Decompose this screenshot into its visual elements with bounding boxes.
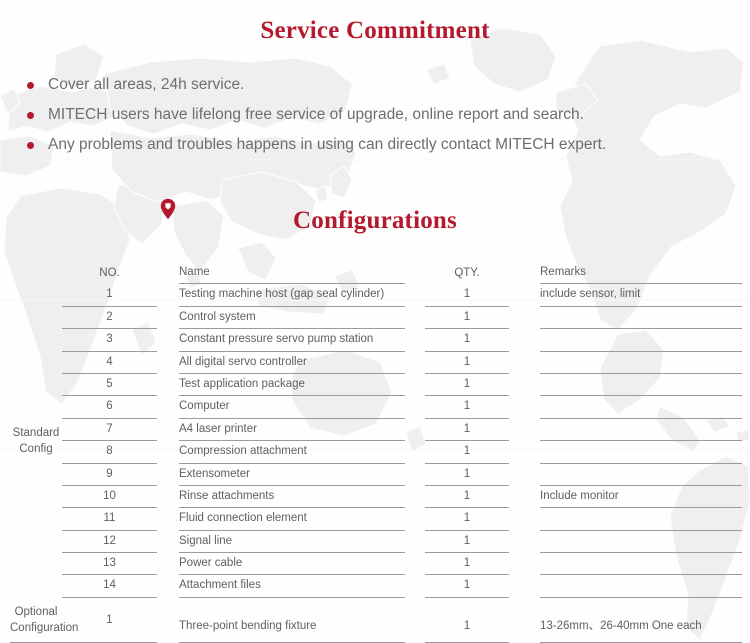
spacer bbox=[405, 441, 425, 463]
row-group-label-line: Optional bbox=[10, 604, 62, 620]
spacer bbox=[157, 464, 179, 486]
spacer bbox=[0, 419, 10, 441]
column-header-no-text: NO. bbox=[62, 263, 157, 284]
page-title-configurations: Configurations bbox=[0, 206, 750, 236]
table-row: 5Test application package1 bbox=[0, 374, 750, 396]
spacer bbox=[509, 284, 540, 306]
spacer bbox=[405, 598, 425, 643]
cell-qty: 1 bbox=[425, 419, 509, 441]
configurations-table-wrapper: NO.NameQTY.RemarksStandardConfig1Testing… bbox=[0, 262, 750, 643]
spacer bbox=[742, 396, 750, 418]
cell-remarks: Include monitor bbox=[540, 486, 742, 508]
cell-no-text: 7 bbox=[62, 419, 157, 441]
cell-name: Rinse attachments bbox=[179, 486, 405, 508]
cell-remarks-text bbox=[540, 352, 742, 374]
spacer bbox=[742, 508, 750, 530]
spacer bbox=[0, 598, 10, 643]
spacer bbox=[405, 396, 425, 418]
cell-remarks bbox=[540, 575, 742, 597]
cell-remarks bbox=[540, 441, 742, 463]
spacer bbox=[157, 262, 179, 284]
spacer bbox=[509, 396, 540, 418]
spacer bbox=[742, 262, 750, 284]
spacer bbox=[509, 441, 540, 463]
spacer bbox=[405, 486, 425, 508]
spacer bbox=[0, 464, 10, 486]
cell-no-text: 4 bbox=[62, 352, 157, 374]
table-row: 2Control system1 bbox=[0, 307, 750, 329]
cell-qty: 1 bbox=[425, 307, 509, 329]
spacer bbox=[742, 329, 750, 351]
spacer bbox=[742, 598, 750, 643]
table-row: 12Signal line1 bbox=[0, 531, 750, 553]
spacer bbox=[0, 486, 10, 508]
column-header-remarks-text: Remarks bbox=[540, 262, 742, 284]
spacer bbox=[157, 419, 179, 441]
cell-qty-text: 1 bbox=[425, 441, 509, 463]
cell-remarks bbox=[540, 464, 742, 486]
spacer bbox=[405, 352, 425, 374]
list-item-text: Any problems and troubles happens in usi… bbox=[48, 136, 606, 153]
spacer bbox=[509, 553, 540, 575]
row-group-label-optional: OptionalConfiguration bbox=[10, 598, 62, 643]
cell-remarks-text: include sensor, limit bbox=[540, 284, 742, 306]
spacer bbox=[0, 329, 10, 351]
cell-remarks-text bbox=[540, 441, 742, 463]
spacer bbox=[509, 575, 540, 597]
spacer bbox=[157, 284, 179, 306]
cell-name-text: All digital servo controller bbox=[179, 352, 405, 374]
cell-no: 6 bbox=[62, 396, 157, 418]
list-item-text: MITECH users have lifelong free service … bbox=[48, 106, 584, 123]
spacer bbox=[405, 531, 425, 553]
cell-name: Computer bbox=[179, 396, 405, 418]
cell-qty-text: 1 bbox=[425, 284, 509, 306]
spacer bbox=[405, 464, 425, 486]
table-row: 7A4 laser printer1 bbox=[0, 419, 750, 441]
spacer bbox=[509, 262, 540, 284]
cell-no-text: 14 bbox=[62, 575, 157, 597]
cell-remarks-text bbox=[540, 553, 742, 575]
cell-no-text: 6 bbox=[62, 396, 157, 418]
spacer bbox=[0, 352, 10, 374]
cell-no-text: 12 bbox=[62, 531, 157, 553]
column-header-qty: QTY. bbox=[425, 262, 509, 284]
cell-no-text: 1 bbox=[62, 284, 157, 306]
cell-no: 9 bbox=[62, 464, 157, 486]
cell-name-text: Attachment files bbox=[179, 575, 405, 597]
cell-qty-text: 1 bbox=[425, 419, 509, 441]
spacer bbox=[742, 553, 750, 575]
cell-qty-text: 1 bbox=[425, 396, 509, 418]
table-row: 14Attachment files1 bbox=[0, 575, 750, 597]
cell-no-text: 2 bbox=[62, 307, 157, 329]
cell-no-text: 3 bbox=[62, 329, 157, 351]
cell-name-text: A4 laser printer bbox=[179, 419, 405, 441]
cell-qty-text: 1 bbox=[425, 464, 509, 486]
spacer bbox=[405, 262, 425, 284]
cell-name: Fluid connection element bbox=[179, 508, 405, 530]
cell-remarks bbox=[540, 553, 742, 575]
table-row: 6Computer1 bbox=[0, 396, 750, 418]
cell-name-text: Test application package bbox=[179, 374, 405, 396]
cell-remarks bbox=[540, 396, 742, 418]
table-header-row: NO.NameQTY.Remarks bbox=[0, 262, 750, 284]
spacer bbox=[157, 329, 179, 351]
column-header-name-text: Name bbox=[179, 262, 405, 284]
spacer bbox=[405, 575, 425, 597]
table-row: 10Rinse attachments1Include monitor bbox=[0, 486, 750, 508]
cell-name: Three-point bending fixture bbox=[179, 598, 405, 643]
cell-name-text: Fluid connection element bbox=[179, 508, 405, 530]
spacer bbox=[405, 508, 425, 530]
spacer bbox=[742, 441, 750, 463]
cell-remarks: include sensor, limit bbox=[540, 284, 742, 306]
cell-qty-text: 1 bbox=[425, 553, 509, 575]
spacer bbox=[0, 396, 10, 418]
table-row: 8Compression attachment1 bbox=[0, 441, 750, 463]
cell-name: Test application package bbox=[179, 374, 405, 396]
spacer bbox=[405, 553, 425, 575]
cell-remarks bbox=[540, 419, 742, 441]
column-header-qty-text: QTY. bbox=[425, 263, 509, 284]
table-row: 4All digital servo controller1 bbox=[0, 352, 750, 374]
cell-name-text: Control system bbox=[179, 307, 405, 329]
cell-qty: 1 bbox=[425, 508, 509, 530]
table-row: StandardConfig1Testing machine host (gap… bbox=[0, 284, 750, 306]
cell-name-text: Computer bbox=[179, 396, 405, 418]
cell-remarks-text: 13-26mm、26-40mm One each bbox=[540, 598, 742, 643]
spacer bbox=[157, 441, 179, 463]
table-row: 9Extensometer1 bbox=[0, 464, 750, 486]
cell-qty: 1 bbox=[425, 374, 509, 396]
cell-remarks-text bbox=[540, 419, 742, 441]
cell-remarks-text bbox=[540, 464, 742, 486]
column-header-remarks: Remarks bbox=[540, 262, 742, 284]
spacer bbox=[509, 486, 540, 508]
cell-remarks: 13-26mm、26-40mm One each bbox=[540, 598, 742, 643]
cell-remarks bbox=[540, 352, 742, 374]
cell-no: 3 bbox=[62, 329, 157, 351]
cell-qty-text: 1 bbox=[425, 598, 509, 643]
spacer bbox=[405, 284, 425, 306]
spacer bbox=[157, 553, 179, 575]
spacer bbox=[509, 464, 540, 486]
bullet-dot-icon bbox=[27, 112, 34, 119]
cell-remarks-text bbox=[540, 307, 742, 329]
bullet-dot-icon bbox=[27, 82, 34, 89]
spacer bbox=[0, 284, 10, 306]
list-item: Cover all areas, 24h service. bbox=[25, 70, 725, 100]
spacer bbox=[0, 262, 10, 284]
cell-remarks bbox=[540, 531, 742, 553]
spacer bbox=[157, 575, 179, 597]
cell-no-text: 5 bbox=[62, 374, 157, 396]
spacer bbox=[509, 419, 540, 441]
spacer bbox=[0, 575, 10, 597]
cell-qty: 1 bbox=[425, 531, 509, 553]
list-item: MITECH users have lifelong free service … bbox=[25, 100, 725, 130]
list-item-text: Cover all areas, 24h service. bbox=[48, 76, 244, 93]
cell-no: 12 bbox=[62, 531, 157, 553]
cell-remarks-text bbox=[540, 508, 742, 530]
spacer bbox=[509, 598, 540, 643]
cell-no-text: 8 bbox=[62, 441, 157, 463]
cell-qty-text: 1 bbox=[425, 508, 509, 530]
cell-remarks-text bbox=[540, 374, 742, 396]
spacer bbox=[157, 486, 179, 508]
cell-no: 11 bbox=[62, 508, 157, 530]
cell-qty: 1 bbox=[425, 284, 509, 306]
column-header-name: Name bbox=[179, 262, 405, 284]
cell-name-text: Signal line bbox=[179, 531, 405, 553]
cell-name-text: Power cable bbox=[179, 553, 405, 575]
spacer bbox=[157, 598, 179, 643]
cell-no: 2 bbox=[62, 307, 157, 329]
spacer bbox=[742, 531, 750, 553]
spacer bbox=[509, 307, 540, 329]
cell-no-text: 11 bbox=[62, 508, 157, 530]
spacer bbox=[742, 307, 750, 329]
spacer bbox=[157, 396, 179, 418]
configurations-table: NO.NameQTY.RemarksStandardConfig1Testing… bbox=[0, 262, 750, 643]
cell-qty-text: 1 bbox=[425, 575, 509, 597]
cell-no-text: 13 bbox=[62, 553, 157, 575]
cell-qty: 1 bbox=[425, 329, 509, 351]
spacer bbox=[157, 352, 179, 374]
spacer bbox=[742, 284, 750, 306]
cell-qty-text: 1 bbox=[425, 329, 509, 351]
cell-remarks bbox=[540, 374, 742, 396]
cell-qty: 1 bbox=[425, 598, 509, 643]
cell-name-text: Extensometer bbox=[179, 464, 405, 486]
spacer bbox=[509, 329, 540, 351]
cell-remarks bbox=[540, 508, 742, 530]
spacer bbox=[0, 531, 10, 553]
column-header-no: NO. bbox=[62, 262, 157, 284]
spacer bbox=[157, 508, 179, 530]
cell-name: Attachment files bbox=[179, 575, 405, 597]
cell-name: Compression attachment bbox=[179, 441, 405, 463]
page-root: Service Commitment Cover all areas, 24h … bbox=[0, 0, 750, 643]
cell-qty-text: 1 bbox=[425, 486, 509, 508]
spacer bbox=[742, 352, 750, 374]
spacer bbox=[157, 307, 179, 329]
spacer bbox=[509, 352, 540, 374]
spacer bbox=[0, 374, 10, 396]
cell-qty-text: 1 bbox=[425, 352, 509, 374]
cell-remarks-text bbox=[540, 531, 742, 553]
cell-remarks-text bbox=[540, 396, 742, 418]
spacer bbox=[405, 374, 425, 396]
spacer bbox=[509, 531, 540, 553]
spacer bbox=[742, 374, 750, 396]
cell-qty-text: 1 bbox=[425, 307, 509, 329]
cell-no: 14 bbox=[62, 575, 157, 597]
cell-no-text: 10 bbox=[62, 486, 157, 508]
cell-no: 4 bbox=[62, 352, 157, 374]
spacer bbox=[405, 419, 425, 441]
cell-no: 13 bbox=[62, 553, 157, 575]
row-group-label-line: Standard bbox=[10, 425, 62, 441]
page-title-service-commitment: Service Commitment bbox=[0, 16, 750, 46]
cell-name: All digital servo controller bbox=[179, 352, 405, 374]
bullet-dot-icon bbox=[27, 142, 34, 149]
service-commitment-list: Cover all areas, 24h service. MITECH use… bbox=[25, 70, 725, 160]
cell-qty: 1 bbox=[425, 575, 509, 597]
cell-qty-text: 1 bbox=[425, 531, 509, 553]
spacer bbox=[0, 307, 10, 329]
spacer bbox=[509, 374, 540, 396]
cell-no: 10 bbox=[62, 486, 157, 508]
spacer bbox=[742, 419, 750, 441]
table-row: 13Power cable1 bbox=[0, 553, 750, 575]
cell-no: 7 bbox=[62, 419, 157, 441]
spacer bbox=[509, 508, 540, 530]
cell-name-text: Testing machine host (gap seal cylinder) bbox=[179, 284, 405, 306]
table-row: 11Fluid connection element1 bbox=[0, 508, 750, 530]
table-row: OptionalConfiguration1Three-point bendin… bbox=[0, 598, 750, 643]
spacer bbox=[405, 329, 425, 351]
cell-qty: 1 bbox=[425, 486, 509, 508]
cell-no: 1 bbox=[62, 598, 157, 643]
cell-no-text: 1 bbox=[62, 598, 157, 642]
cell-name-text: Compression attachment bbox=[179, 441, 405, 463]
cell-name-text: Three-point bending fixture bbox=[179, 598, 405, 643]
cell-no: 8 bbox=[62, 441, 157, 463]
spacer bbox=[0, 441, 10, 463]
spacer bbox=[405, 307, 425, 329]
cell-name-text: Constant pressure servo pump station bbox=[179, 329, 405, 351]
spacer bbox=[742, 464, 750, 486]
cell-no-text: 9 bbox=[62, 464, 157, 486]
cell-qty: 1 bbox=[425, 441, 509, 463]
row-group-label-line: Config bbox=[10, 441, 62, 457]
cell-remarks bbox=[540, 329, 742, 351]
cell-qty: 1 bbox=[425, 396, 509, 418]
spacer bbox=[742, 575, 750, 597]
cell-name: Testing machine host (gap seal cylinder) bbox=[179, 284, 405, 306]
spacer bbox=[0, 553, 10, 575]
row-group-label-line: Configuration bbox=[10, 620, 62, 636]
spacer bbox=[157, 374, 179, 396]
cell-remarks bbox=[540, 307, 742, 329]
spacer bbox=[0, 508, 10, 530]
cell-no: 5 bbox=[62, 374, 157, 396]
cell-name: Extensometer bbox=[179, 464, 405, 486]
cell-remarks-text bbox=[540, 575, 742, 597]
cell-qty: 1 bbox=[425, 352, 509, 374]
cell-remarks-text bbox=[540, 329, 742, 351]
spacer bbox=[742, 486, 750, 508]
cell-qty: 1 bbox=[425, 553, 509, 575]
row-group-label-standard: StandardConfig bbox=[10, 284, 62, 597]
cell-name: Signal line bbox=[179, 531, 405, 553]
cell-qty: 1 bbox=[425, 464, 509, 486]
cell-name: A4 laser printer bbox=[179, 419, 405, 441]
cell-qty-text: 1 bbox=[425, 374, 509, 396]
column-header-group bbox=[10, 262, 62, 284]
cell-no: 1 bbox=[62, 284, 157, 306]
cell-name: Power cable bbox=[179, 553, 405, 575]
list-item: Any problems and troubles happens in usi… bbox=[25, 130, 725, 160]
cell-name: Control system bbox=[179, 307, 405, 329]
table-row: 3Constant pressure servo pump station1 bbox=[0, 329, 750, 351]
cell-name-text: Rinse attachments bbox=[179, 486, 405, 508]
cell-remarks-text: Include monitor bbox=[540, 486, 742, 508]
spacer bbox=[157, 531, 179, 553]
cell-name: Constant pressure servo pump station bbox=[179, 329, 405, 351]
column-header-group-text bbox=[10, 263, 62, 284]
